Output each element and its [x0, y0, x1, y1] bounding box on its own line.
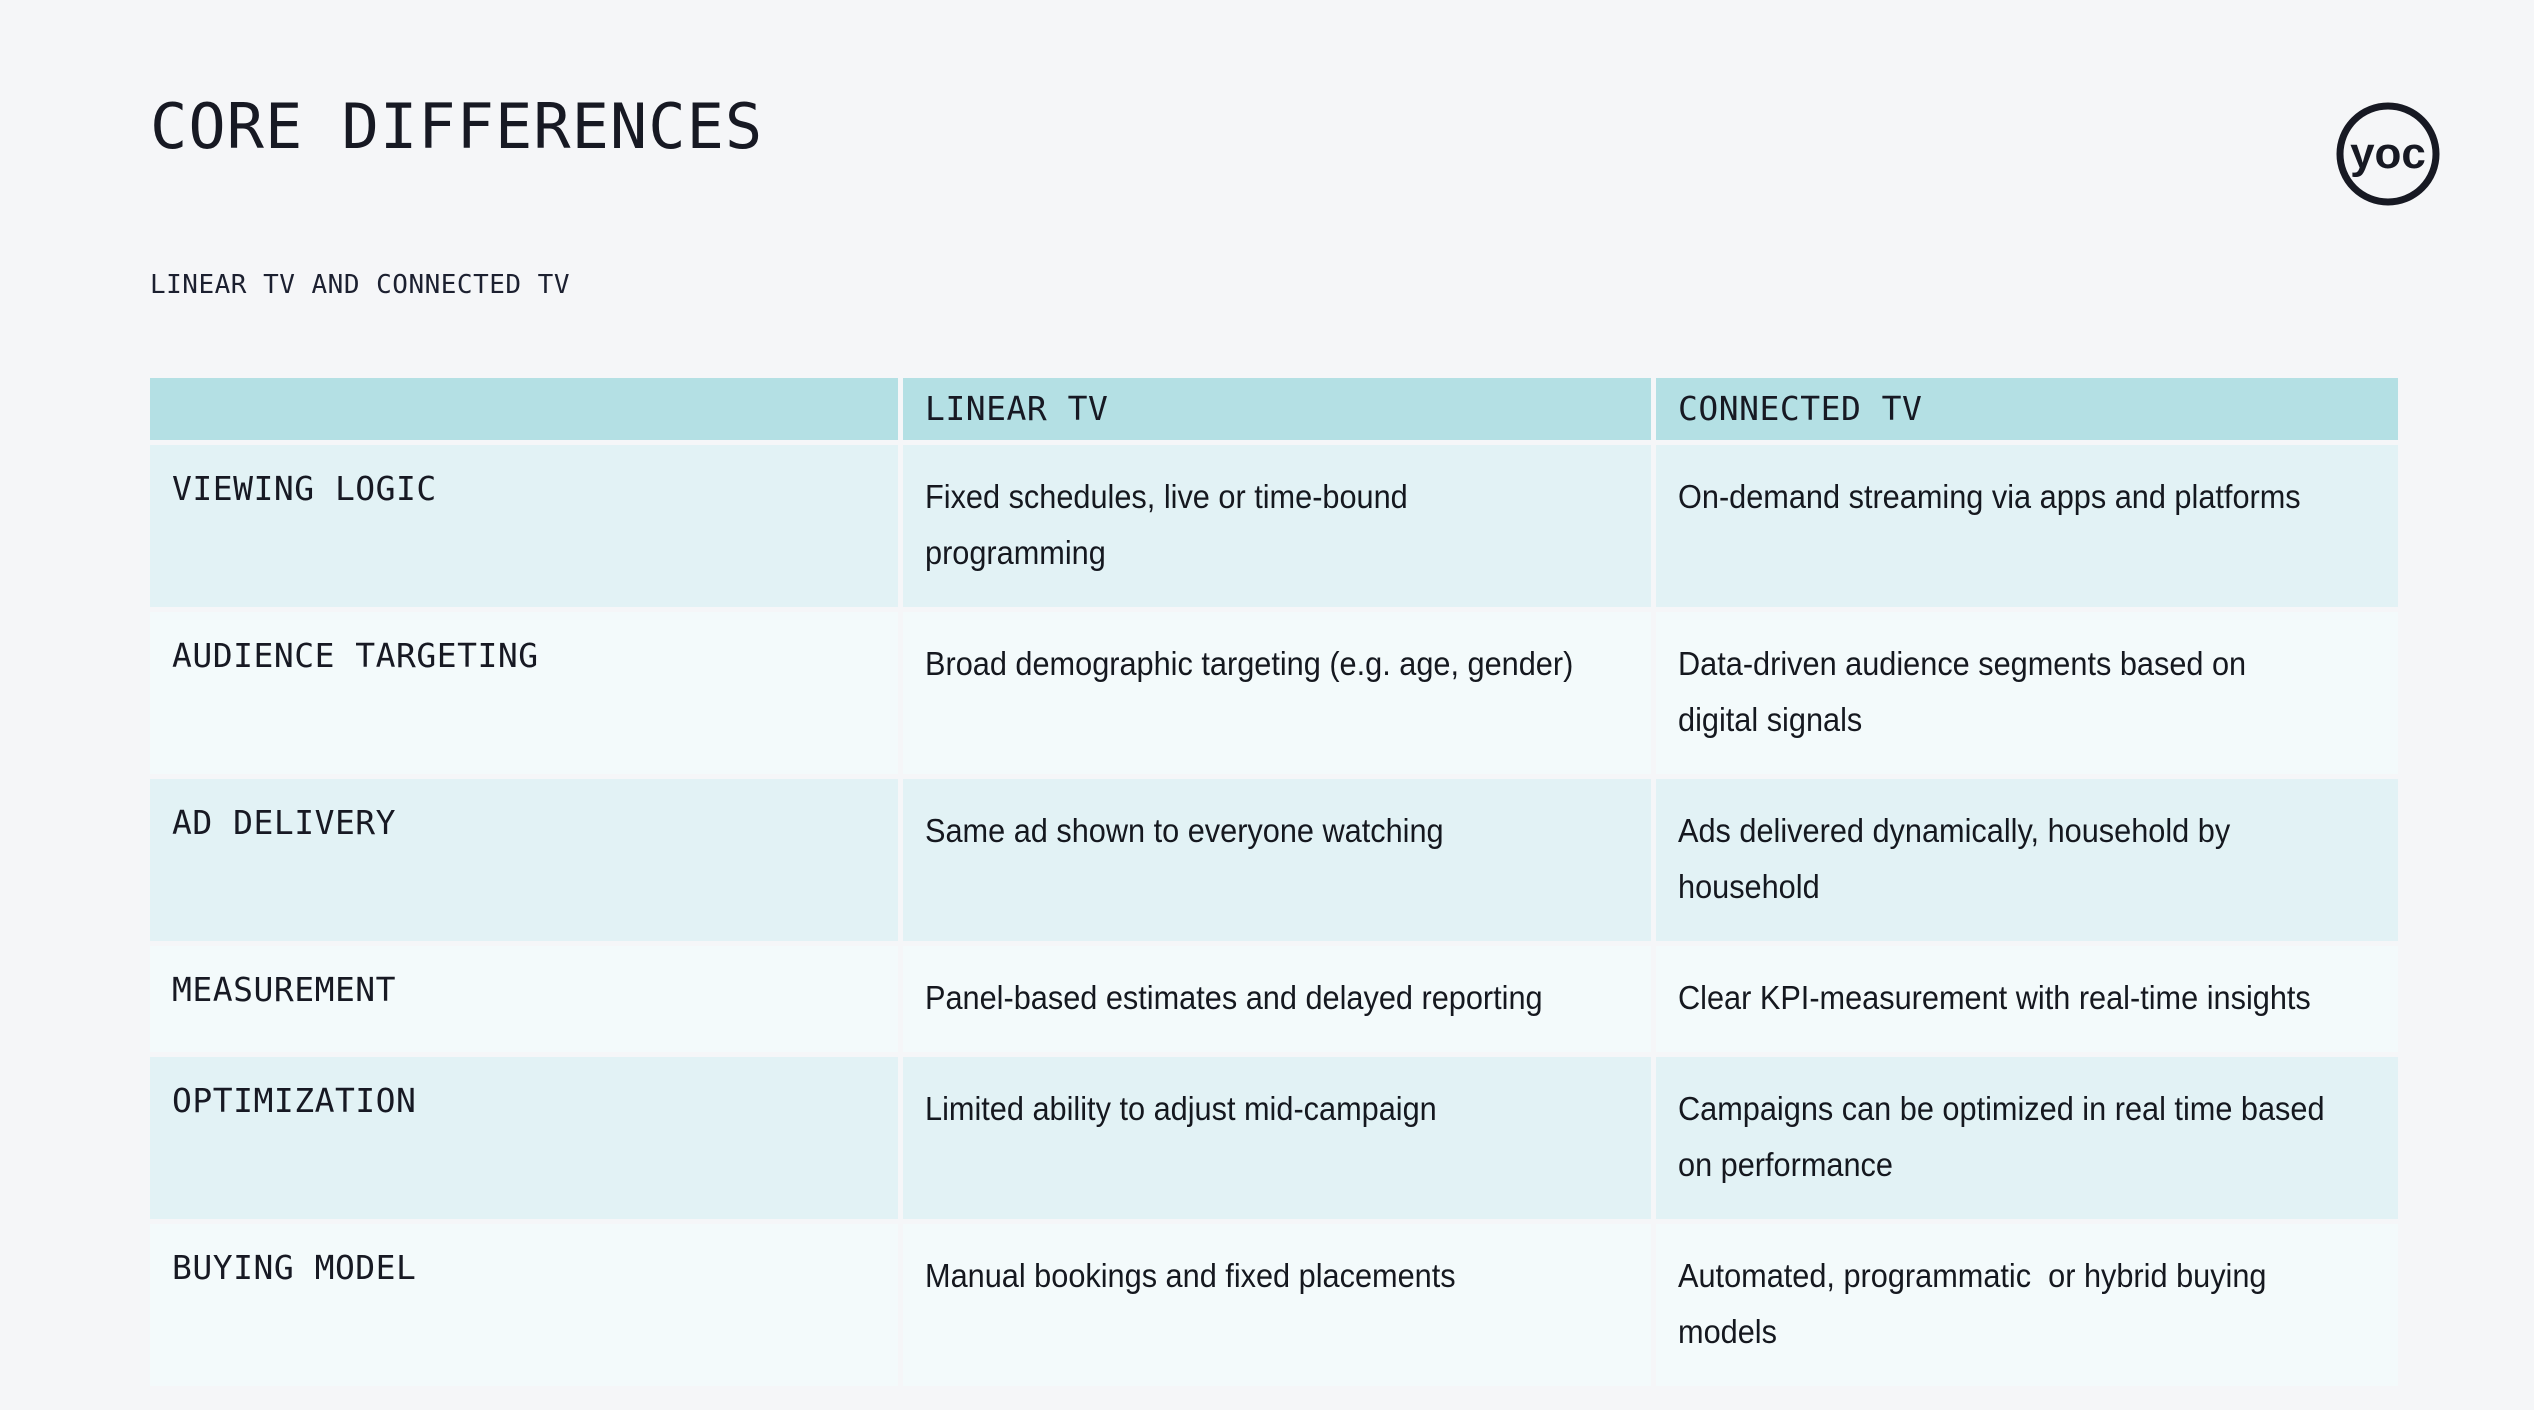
row-linear-tv-text: Manual bookings and fixed placements [925, 1248, 1580, 1304]
page-title: CORE DIFFERENCES [150, 96, 2384, 158]
table-cell-key: AD DELIVERY [150, 779, 898, 941]
table-cell-connected-tv: Campaigns can be optimized in real time … [1656, 1057, 2398, 1219]
table-header-row: LINEAR TV CONNECTED TV [150, 378, 2388, 440]
row-connected-tv-text: Data-driven audience segments based on d… [1678, 636, 2327, 748]
table-cell-key: OPTIMIZATION [150, 1057, 898, 1219]
table-header-cell-connected-tv: CONNECTED TV [1656, 378, 2398, 440]
table-cell-key: BUYING MODEL [150, 1224, 898, 1386]
row-key-label: VIEWING LOGIC [172, 469, 876, 509]
page-subtitle: LINEAR TV AND CONNECTED TV [150, 270, 570, 300]
row-key-label: AD DELIVERY [172, 803, 876, 843]
slide-root: CORE DIFFERENCES LINEAR TV AND CONNECTED… [0, 0, 2534, 1410]
table-cell-connected-tv: Clear KPI-measurement with real-time ins… [1656, 946, 2398, 1052]
table-cell-key: VIEWING LOGIC [150, 445, 898, 607]
table-cell-connected-tv: Ads delivered dynamically, household by … [1656, 779, 2398, 941]
row-key-label: BUYING MODEL [172, 1248, 876, 1288]
row-linear-tv-text: Panel-based estimates and delayed report… [925, 970, 1580, 1026]
row-key-label: OPTIMIZATION [172, 1081, 876, 1121]
row-connected-tv-text: Clear KPI-measurement with real-time ins… [1678, 970, 2327, 1026]
row-connected-tv-text: Campaigns can be optimized in real time … [1678, 1081, 2327, 1193]
svg-text:yoc: yoc [2350, 129, 2426, 178]
table-cell-linear-tv: Broad demographic targeting (e.g. age, g… [903, 612, 1651, 774]
table-row: OPTIMIZATION Limited ability to adjust m… [150, 1057, 2388, 1219]
table-cell-linear-tv: Manual bookings and fixed placements [903, 1224, 1651, 1386]
table-cell-linear-tv: Fixed schedules, live or time-bound prog… [903, 445, 1651, 607]
comparison-table: LINEAR TV CONNECTED TV VIEWING LOGIC Fix… [150, 378, 2388, 1386]
table-row: AD DELIVERY Same ad shown to everyone wa… [150, 779, 2388, 941]
row-linear-tv-text: Limited ability to adjust mid-campaign [925, 1081, 1580, 1137]
table-cell-connected-tv: Data-driven audience segments based on d… [1656, 612, 2398, 774]
yoc-logo: yoc [2334, 100, 2442, 208]
table-row: AUDIENCE TARGETING Broad demographic tar… [150, 612, 2388, 774]
row-connected-tv-text: Ads delivered dynamically, household by … [1678, 803, 2327, 915]
table-cell-linear-tv: Panel-based estimates and delayed report… [903, 946, 1651, 1052]
row-connected-tv-text: Automated, programmatic or hybrid buying… [1678, 1248, 2327, 1360]
table-cell-linear-tv: Limited ability to adjust mid-campaign [903, 1057, 1651, 1219]
table-header-label-connected-tv: CONNECTED TV [1678, 392, 2376, 426]
row-key-label: AUDIENCE TARGETING [172, 636, 876, 676]
table-row: BUYING MODEL Manual bookings and fixed p… [150, 1224, 2388, 1386]
row-linear-tv-text: Fixed schedules, live or time-bound prog… [925, 469, 1580, 581]
row-key-label: MEASUREMENT [172, 970, 876, 1010]
table-row: MEASUREMENT Panel-based estimates and de… [150, 946, 2388, 1052]
table-cell-key: AUDIENCE TARGETING [150, 612, 898, 774]
table-cell-connected-tv: On-demand streaming via apps and platfor… [1656, 445, 2398, 607]
table-header-cell-linear-tv: LINEAR TV [903, 378, 1651, 440]
table-header-cell-key [150, 378, 898, 440]
row-connected-tv-text: On-demand streaming via apps and platfor… [1678, 469, 2327, 525]
table-cell-linear-tv: Same ad shown to everyone watching [903, 779, 1651, 941]
row-linear-tv-text: Same ad shown to everyone watching [925, 803, 1580, 859]
row-linear-tv-text: Broad demographic targeting (e.g. age, g… [925, 636, 1580, 692]
table-row: VIEWING LOGIC Fixed schedules, live or t… [150, 445, 2388, 607]
table-cell-connected-tv: Automated, programmatic or hybrid buying… [1656, 1224, 2398, 1386]
slide-header: CORE DIFFERENCES [150, 96, 2384, 256]
table-header-label-linear-tv: LINEAR TV [925, 392, 1629, 426]
table-cell-key: MEASUREMENT [150, 946, 898, 1052]
